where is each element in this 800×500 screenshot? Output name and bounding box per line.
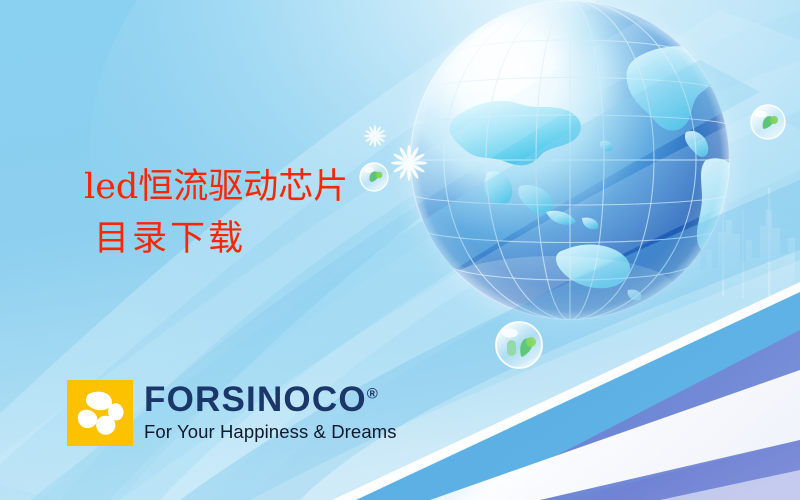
logo-wordmark: FORSINOCO® <box>144 382 397 417</box>
eco-bubble-center <box>496 322 542 368</box>
sparkle-star-small <box>364 125 386 147</box>
headline-line-2: 目录下载 <box>94 214 504 266</box>
globe-meridians <box>410 0 730 320</box>
city-skyline-silhouette <box>662 188 795 300</box>
headline-line-1: led恒流驱动芯片 <box>84 162 504 214</box>
corner-diagonal-bands <box>332 282 800 500</box>
forsinoco-pinwheel-icon <box>67 380 133 446</box>
promo-banner: led恒流驱动芯片 目录下载 FORSINOCO® For <box>0 0 800 500</box>
registered-trademark-icon: ® <box>367 385 378 402</box>
logo-text-group: FORSINOCO® For Your Happiness & Dreams <box>144 380 397 442</box>
company-logo[interactable]: FORSINOCO® For Your Happiness & Dreams <box>67 380 397 446</box>
headline-block: led恒流驱动芯片 目录下载 <box>84 162 504 266</box>
logo-wordmark-text: FORSINOCO <box>144 380 367 419</box>
logo-tagline: For Your Happiness & Dreams <box>144 423 397 442</box>
eco-bubble-right <box>751 105 785 139</box>
